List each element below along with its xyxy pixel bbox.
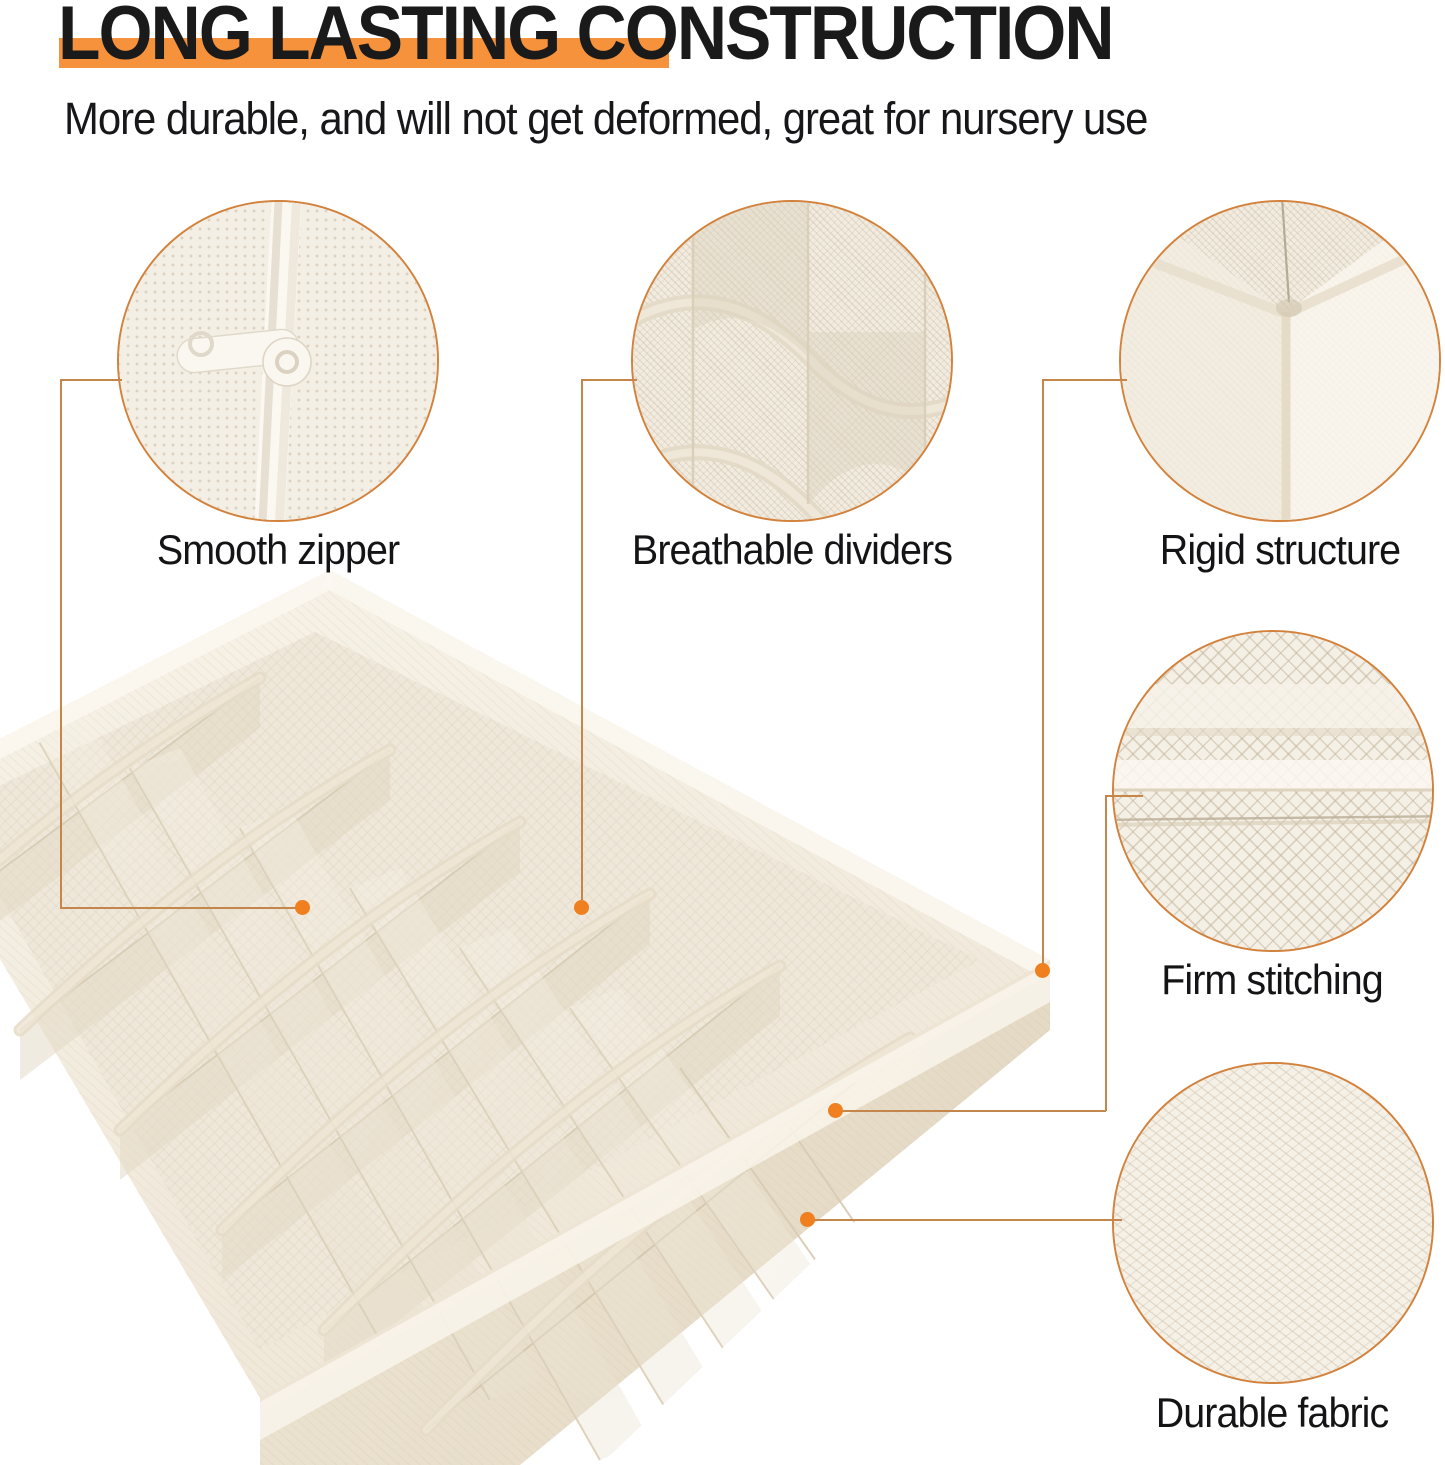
leader-stitching-h1 <box>1105 795 1143 797</box>
leader-dot-stitching <box>828 1103 843 1118</box>
leader-zipper-v <box>60 379 62 908</box>
callout-label-breathable-dividers: Breathable dividers <box>602 525 982 575</box>
header: LONG LASTING CONSTRUCTION <box>0 0 1445 86</box>
callout-label-smooth-zipper: Smooth zipper <box>90 525 466 575</box>
leader-fabric-h <box>812 1219 1122 1221</box>
callout-label-rigid-structure: Rigid structure <box>1090 525 1445 575</box>
breathable-dividers-photo <box>631 200 953 522</box>
product-image <box>0 560 1080 1465</box>
page-subtitle: More durable, and will not get deformed,… <box>64 92 1301 146</box>
leader-stitching-h2 <box>840 1110 1106 1112</box>
inner-corner-illustration <box>1121 202 1441 522</box>
leader-dividers-v <box>581 379 583 908</box>
divider-cells-illustration <box>633 202 953 522</box>
leader-dividers-h <box>581 379 637 381</box>
leader-dot-fabric <box>800 1212 815 1227</box>
leader-rigid-v <box>1042 379 1044 971</box>
stitch-lines-illustration <box>1114 684 1434 825</box>
durable-fabric-photo <box>1112 1062 1434 1384</box>
smooth-zipper-photo <box>117 200 439 522</box>
leader-zipper-h1 <box>60 379 122 381</box>
zipper-illustration <box>176 202 311 522</box>
infographic-canvas: LONG LASTING CONSTRUCTION More durable, … <box>0 0 1445 1462</box>
product-body <box>0 570 1050 1465</box>
callout-label-firm-stitching: Firm stitching <box>1082 955 1445 1005</box>
leader-stitching-v <box>1105 795 1107 1111</box>
callout-label-durable-fabric: Durable fabric <box>1082 1388 1445 1438</box>
rigid-structure-photo <box>1119 200 1441 522</box>
leader-zipper-h2 <box>60 907 306 909</box>
leader-rigid-h <box>1042 379 1127 381</box>
firm-stitching-photo <box>1112 630 1434 952</box>
page-title: LONG LASTING CONSTRUCTION <box>58 0 1302 78</box>
leader-dot-zipper <box>295 900 310 915</box>
leader-dot-rigid <box>1035 963 1050 978</box>
leader-dot-dividers <box>574 900 589 915</box>
